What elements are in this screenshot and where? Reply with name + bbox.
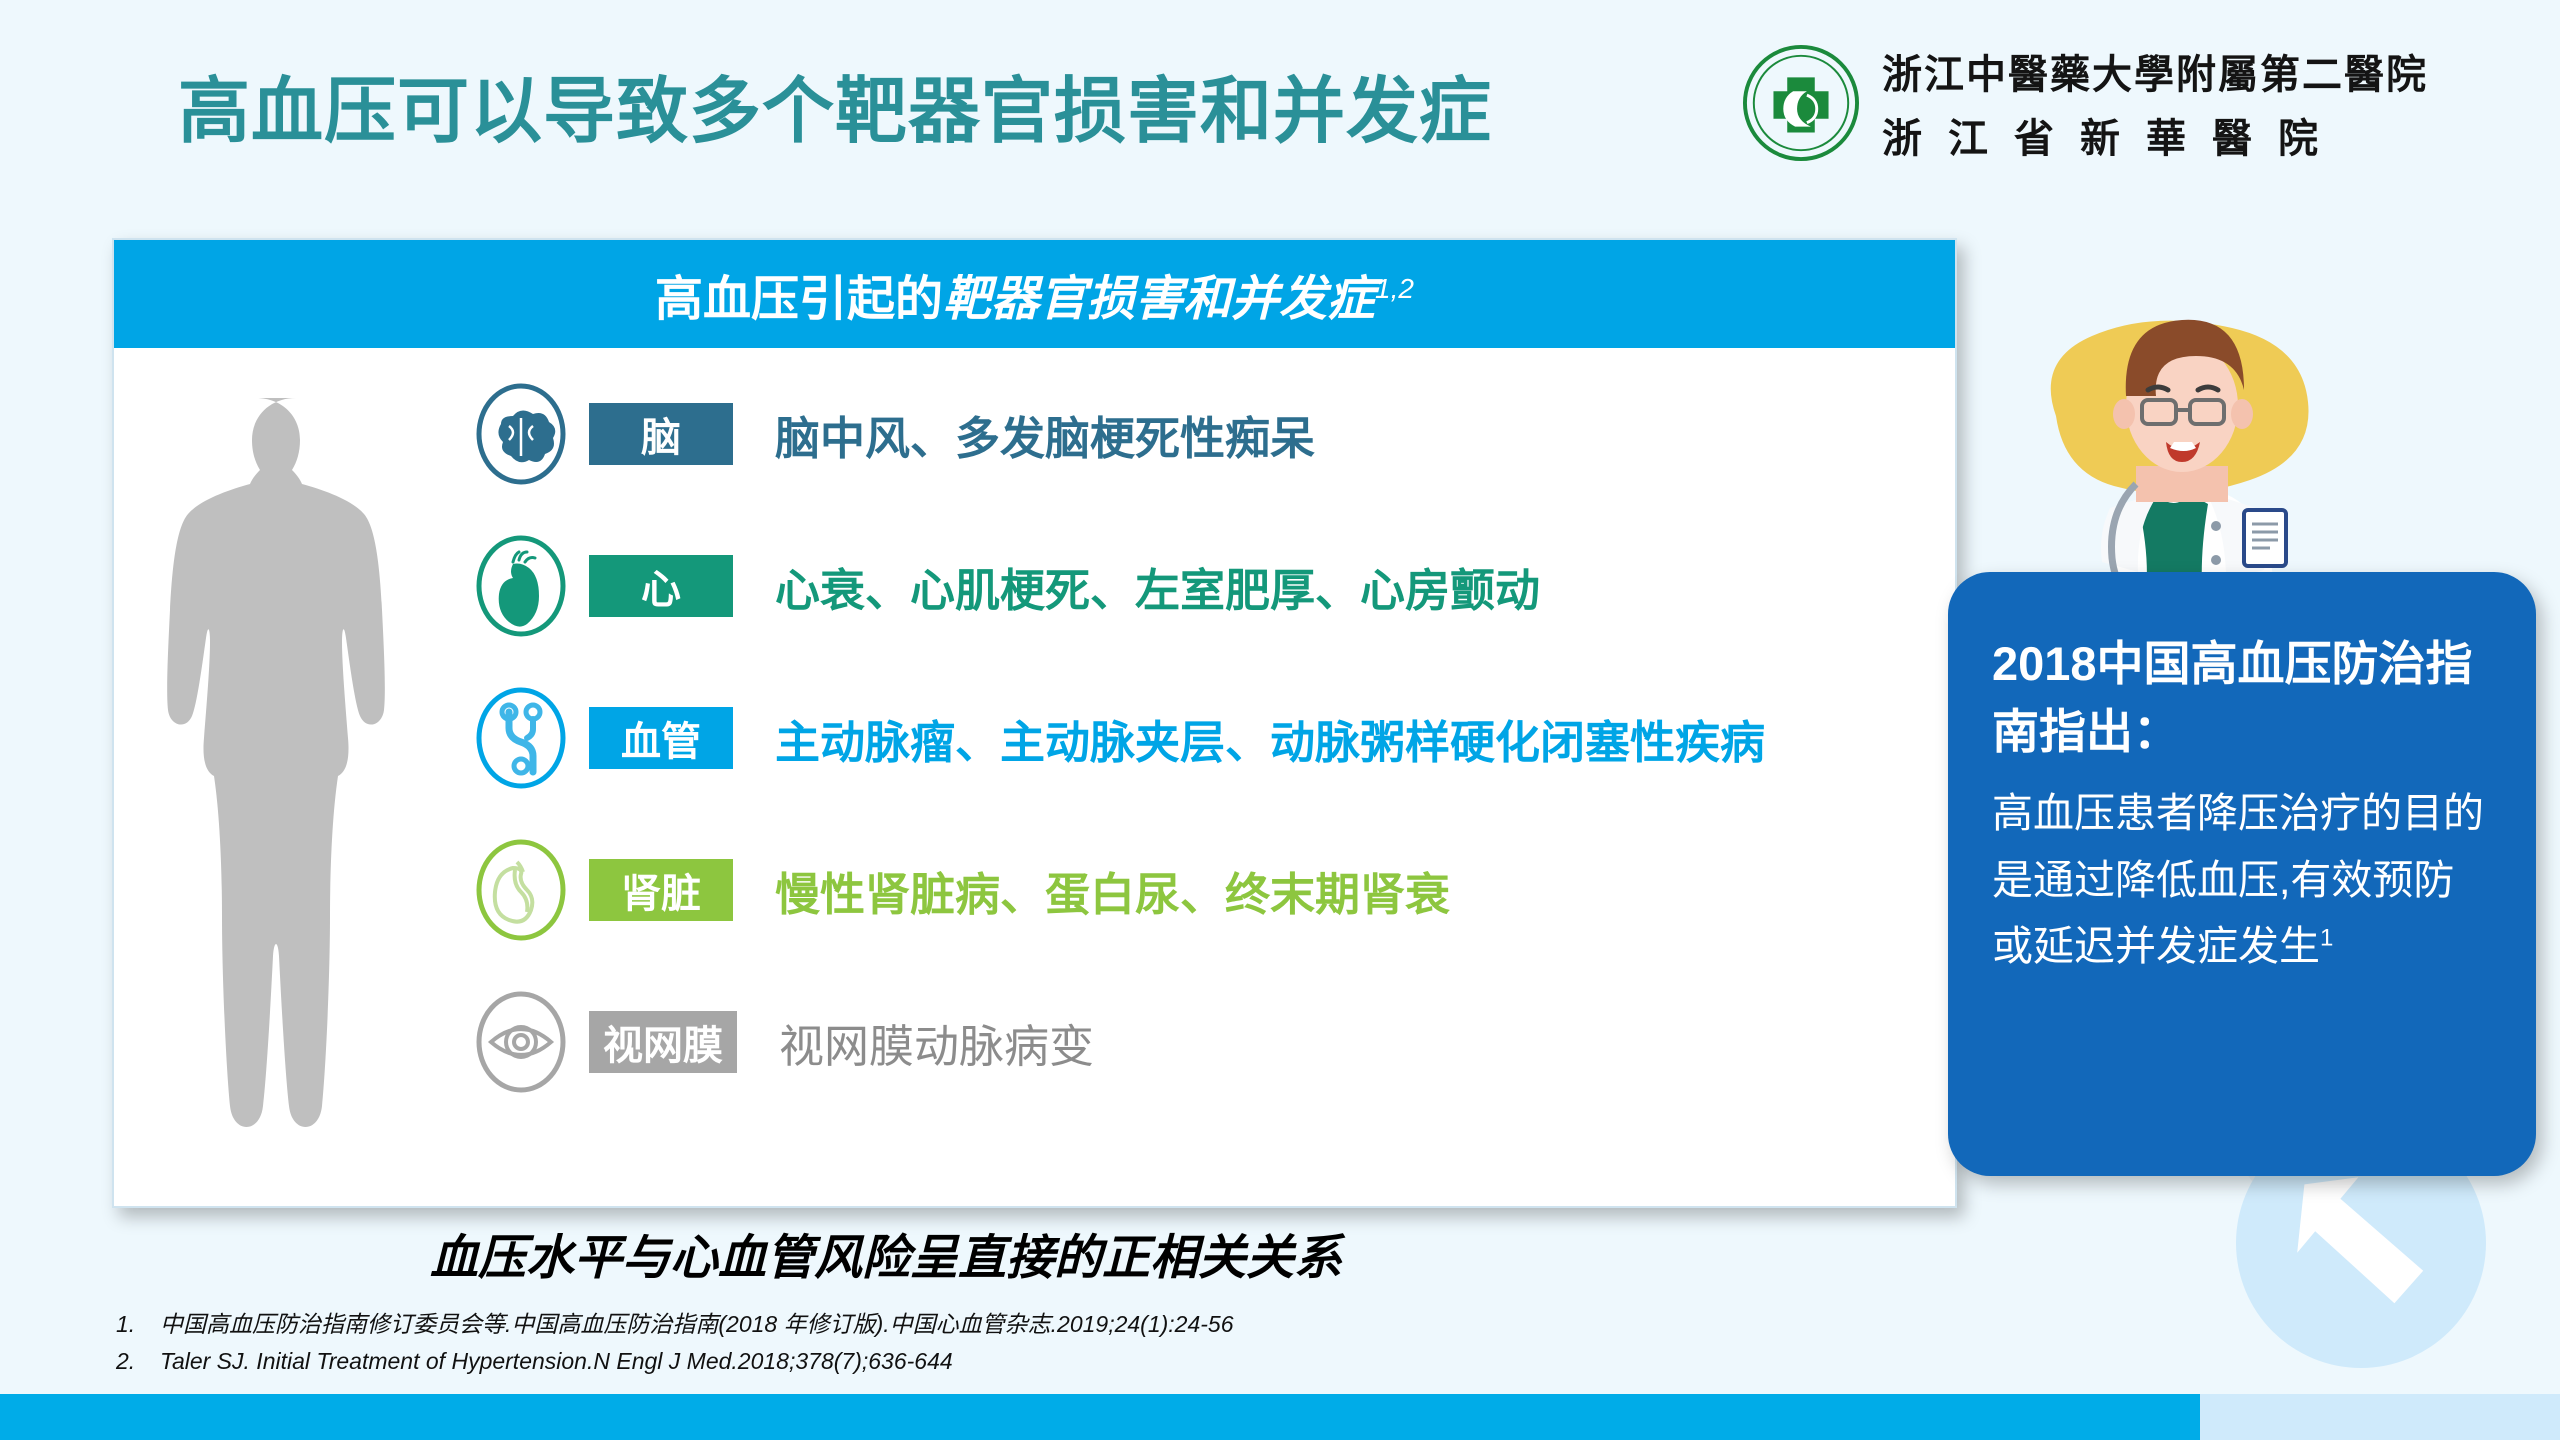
organ-row-brain: 脑 脑中风、多发脑梗死性痴呆	[469, 358, 1945, 510]
bottom-bar-fill	[0, 1394, 2200, 1440]
bottom-caption: 血压水平与心血管风险呈直接的正相关关系	[430, 1218, 1342, 1288]
card-header: 高血压引起的靶器官损害和并发症1,2	[114, 240, 1955, 348]
kidney-icon	[469, 838, 573, 942]
reference-number: 2.	[116, 1343, 142, 1380]
guideline-body: 高血压患者降压治疗的目的是通过降低血压,有效预防或延迟并发症发生1	[1992, 780, 2492, 979]
reference-text: Taler SJ. Initial Treatment of Hypertens…	[160, 1343, 953, 1380]
organ-damage-card: 高血压引起的靶器官损害和并发症1,2 脑 脑中风、多发脑梗死性痴呆	[112, 238, 1957, 1208]
card-header-main: 高血压引起的	[655, 273, 943, 326]
brain-icon	[469, 382, 573, 486]
card-header-italic: 靶器官损害和并发症	[943, 273, 1375, 326]
human-body-silhouette-icon	[146, 380, 446, 1170]
guideline-body-text: 高血压患者降压治疗的目的是通过降低血压,有效预防或延迟并发症发生	[1992, 790, 2484, 969]
heart-icon	[469, 534, 573, 638]
reference-item: 1. 中国高血压防治指南修订委员会等.中国高血压防治指南(2018 年修订版).…	[116, 1306, 2016, 1343]
guideline-callout: 2018中国高血压防治指南指出： 高血压患者降压治疗的目的是通过降低血压,有效预…	[1948, 572, 2536, 1176]
doctor-illustration-icon	[1960, 210, 2360, 610]
card-header-title: 高血压引起的靶器官损害和并发症1,2	[655, 259, 1414, 329]
guideline-body-superscript: 1	[2320, 924, 2333, 951]
reference-text: 中国高血压防治指南修订委员会等.中国高血压防治指南(2018 年修订版).中国心…	[160, 1306, 1234, 1343]
eye-retina-icon	[469, 990, 573, 1094]
organ-text-retina: 视网膜动脉病变	[779, 1010, 1094, 1075]
organ-text-heart: 心衰、心肌梗死、左室肥厚、心房颤动	[775, 554, 1540, 619]
organ-badge-vessel: 血管	[589, 707, 733, 769]
organ-badge-heart: 心	[589, 555, 733, 617]
organ-badge-brain: 脑	[589, 403, 733, 465]
arrow-up-left-icon	[2272, 1152, 2452, 1332]
organ-text-brain: 脑中风、多发脑梗死性痴呆	[775, 402, 1315, 467]
organ-badge-retina: 视网膜	[589, 1011, 737, 1073]
organ-row-heart: 心 心衰、心肌梗死、左室肥厚、心房颤动	[469, 510, 1945, 662]
organ-text-vessel: 主动脉瘤、主动脉夹层、动脉粥样硬化闭塞性疾病	[775, 706, 1765, 771]
card-header-superscript: 1,2	[1375, 273, 1414, 304]
reference-item: 2. Taler SJ. Initial Treatment of Hypert…	[116, 1343, 2016, 1380]
hospital-name-line1: 浙江中醫藥大學附屬第二醫院	[1882, 42, 2428, 100]
organ-row-kidney: 肾脏 慢性肾脏病、蛋白尿、终末期肾衰	[469, 814, 1945, 966]
hospital-logo: 浙江中醫藥大學附屬第二醫院 浙江省新華醫院	[1742, 42, 2428, 164]
hospital-name-line2: 浙江省新華醫院	[1882, 106, 2428, 164]
organ-text-kidney: 慢性肾脏病、蛋白尿、终末期肾衰	[775, 858, 1450, 923]
organ-row-vessel: 血管 主动脉瘤、主动脉夹层、动脉粥样硬化闭塞性疾病	[469, 662, 1945, 814]
card-body: 脑 脑中风、多发脑梗死性痴呆 心 心衰、心肌梗死、左室肥厚、心房颤动	[114, 348, 1955, 1210]
organ-list: 脑 脑中风、多发脑梗死性痴呆 心 心衰、心肌梗死、左室肥厚、心房颤动	[469, 358, 1945, 1118]
references-list: 1. 中国高血压防治指南修订委员会等.中国高血压防治指南(2018 年修订版).…	[116, 1306, 2016, 1381]
organ-row-retina: 视网膜 视网膜动脉病变	[469, 966, 1945, 1118]
blood-vessel-icon	[469, 686, 573, 790]
hospital-cross-emblem-icon	[1742, 44, 1860, 162]
reference-number: 1.	[116, 1306, 142, 1343]
page-title: 高血压可以导致多个靶器官损害和并发症	[178, 52, 1492, 157]
guideline-title: 2018中国高血压防治指南指出：	[1992, 630, 2492, 766]
organ-badge-kidney: 肾脏	[589, 859, 733, 921]
